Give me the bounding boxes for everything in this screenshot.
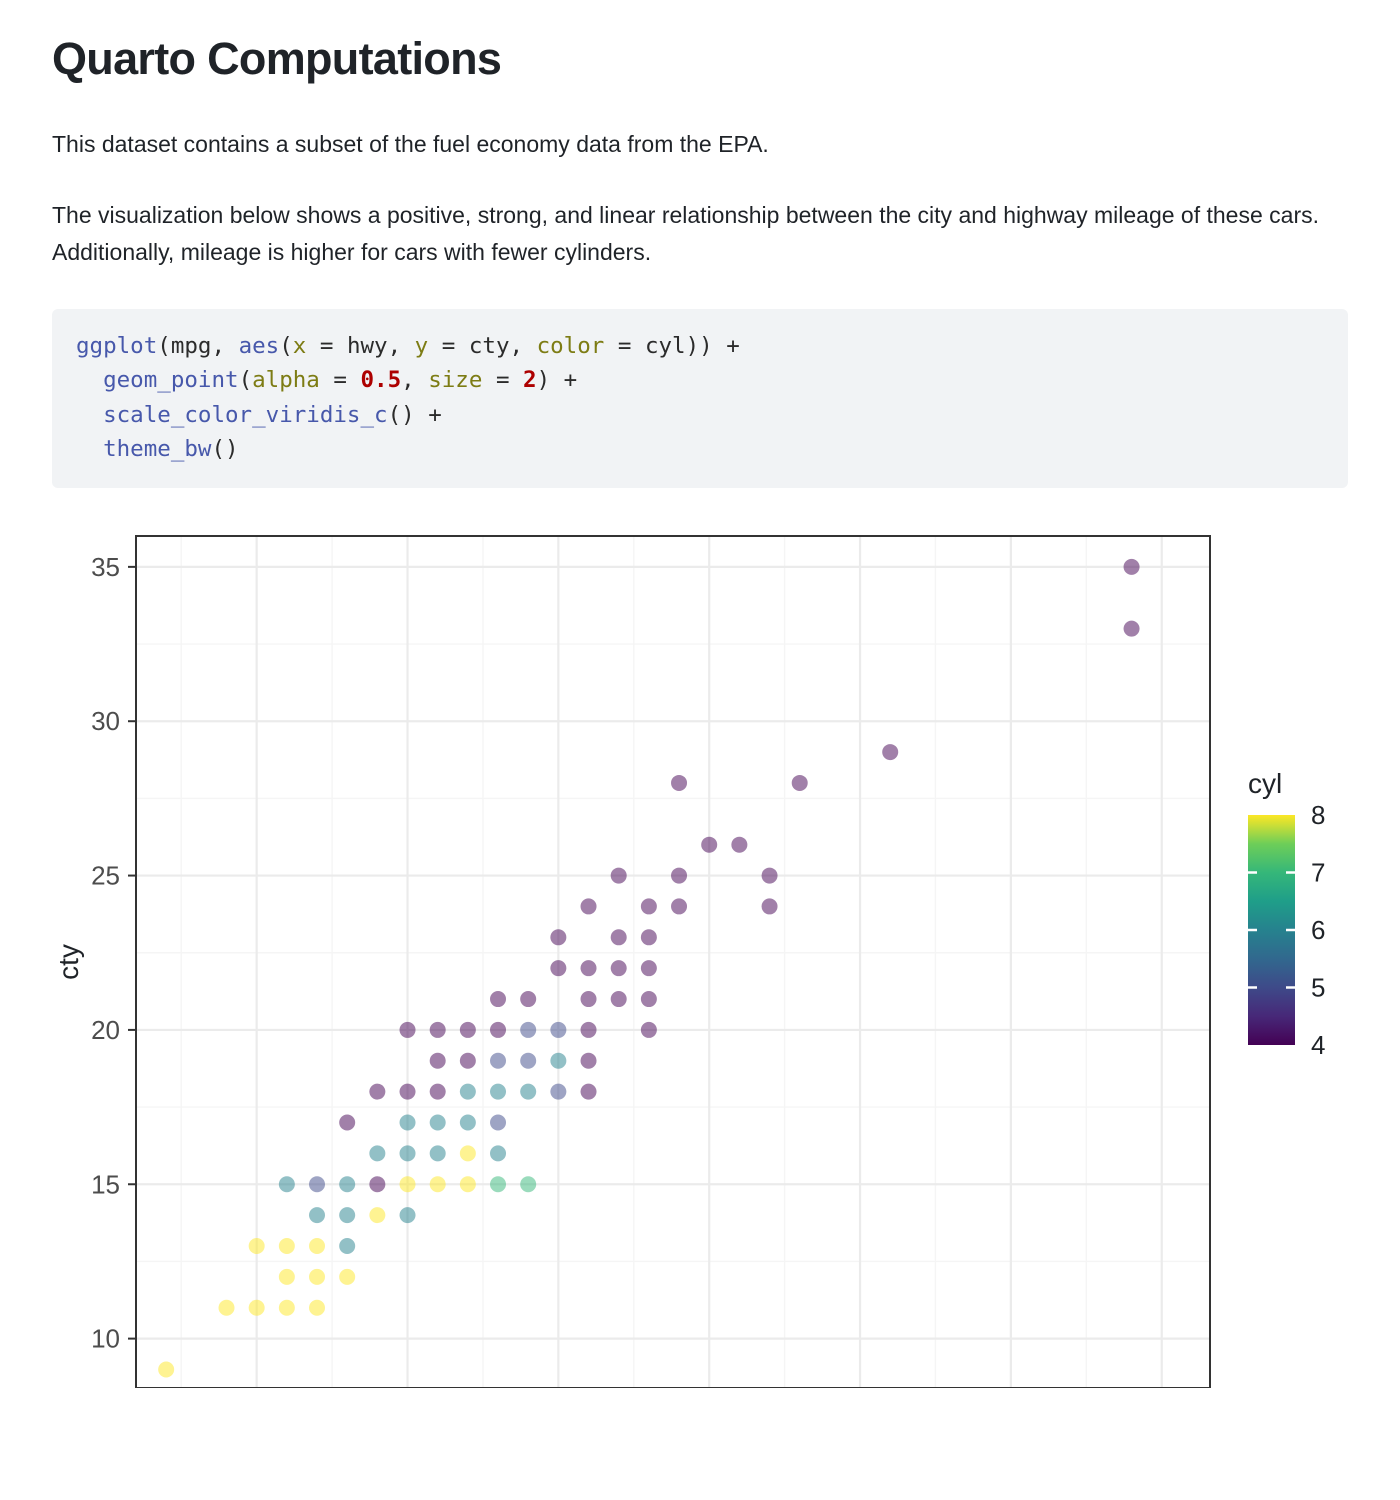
scatter-point: [581, 1084, 597, 1100]
code-token-fn: theme_bw: [103, 436, 211, 462]
scatter-point: [339, 1176, 355, 1192]
scatter-point: [430, 1084, 446, 1100]
code-line: geom_point(alpha = 0.5, size = 2) +: [76, 363, 1324, 397]
scatter-point: [400, 1115, 416, 1131]
scatter-point: [701, 837, 717, 853]
code-block[interactable]: ggplot(mpg, aes(x = hwy, y = cty, color …: [52, 309, 1348, 488]
scatter-point: [550, 960, 566, 976]
y-tick-label: 25: [91, 861, 120, 891]
y-axis: 101520253035: [91, 552, 136, 1354]
scatter-point: [249, 1238, 265, 1254]
scatter-point: [1124, 621, 1140, 637]
scatter-point: [792, 775, 808, 791]
legend-tick-label: 5: [1311, 973, 1325, 1003]
scatter-point: [581, 991, 597, 1007]
code-token-pun: [76, 436, 103, 462]
code-token-fn: scale_color_viridis_c: [103, 402, 387, 428]
scatter-point: [430, 1022, 446, 1038]
scatter-point: [1124, 559, 1140, 575]
legend-tick-label: 6: [1311, 915, 1325, 945]
code-line: scale_color_viridis_c() +: [76, 398, 1324, 432]
scatter-point: [611, 991, 627, 1007]
plot-canvas: 101520253035ctycyl45678: [52, 528, 1352, 1388]
scatter-point: [309, 1269, 325, 1285]
scatter-point: [581, 898, 597, 914]
scatter-point: [460, 1022, 476, 1038]
y-tick-label: 20: [91, 1015, 120, 1045]
code-token-arg: y: [415, 333, 429, 359]
scatter-point: [641, 1022, 657, 1038]
scatter-point: [550, 1022, 566, 1038]
scatter-point: [369, 1145, 385, 1161]
scatter-point: [611, 960, 627, 976]
code-token-pun: [76, 367, 103, 393]
scatter-point: [581, 960, 597, 976]
scatter-point: [249, 1300, 265, 1316]
scatter-point: [430, 1145, 446, 1161]
code-token-pun: ): [537, 367, 551, 393]
scatter-point: [219, 1300, 235, 1316]
scatter-point: [882, 744, 898, 760]
scatter-point: [339, 1115, 355, 1131]
legend-colorbar: cyl45678: [1248, 768, 1325, 1060]
y-tick-label: 10: [91, 1324, 120, 1354]
scatter-point: [550, 1053, 566, 1069]
code-token-pun: =: [428, 333, 469, 359]
y-axis-title: cty: [53, 944, 84, 980]
paragraph-intro: This dataset contains a subset of the fu…: [52, 126, 1342, 163]
scatter-point: [400, 1022, 416, 1038]
scatter-point: [641, 929, 657, 945]
scatter-point: [490, 1176, 506, 1192]
code-token-pun: =: [482, 367, 523, 393]
scatter-point: [460, 1053, 476, 1069]
code-token-pun: (: [279, 333, 293, 359]
scatter-point: [279, 1176, 295, 1192]
legend-tick-label: 4: [1311, 1030, 1325, 1060]
scatter-point: [460, 1115, 476, 1131]
y-tick-label: 30: [91, 706, 120, 736]
scatter-point: [279, 1300, 295, 1316]
code-token-pun: [76, 402, 103, 428]
code-token-pun: =: [306, 333, 347, 359]
code-token-num: 0.5: [360, 367, 401, 393]
scatter-point: [339, 1269, 355, 1285]
code-token-var: hwy: [347, 333, 388, 359]
scatter-point: [430, 1176, 446, 1192]
code-token-pun: (): [211, 436, 238, 462]
scatter-point: [641, 898, 657, 914]
scatter-point: [279, 1238, 295, 1254]
scatter-point: [490, 1022, 506, 1038]
scatter-point: [490, 1115, 506, 1131]
scatter-point: [611, 929, 627, 945]
scatter-point: [309, 1176, 325, 1192]
document-page: Quarto Computations This dataset contain…: [0, 0, 1400, 1388]
code-token-pun: +: [415, 402, 442, 428]
code-token-pun: )): [686, 333, 713, 359]
scatter-point: [671, 775, 687, 791]
scatter-point: [731, 837, 747, 853]
code-token-fn: geom_point: [103, 367, 238, 393]
scatter-point: [339, 1207, 355, 1223]
code-token-arg: size: [428, 367, 482, 393]
scatter-point: [309, 1238, 325, 1254]
code-token-pun: +: [550, 367, 577, 393]
page-title: Quarto Computations: [52, 34, 1348, 84]
scatter-point: [279, 1269, 295, 1285]
code-token-arg: x: [293, 333, 307, 359]
code-line: theme_bw(): [76, 432, 1324, 466]
scatter-point: [490, 1145, 506, 1161]
scatter-point: [641, 991, 657, 1007]
y-tick-label: 15: [91, 1169, 120, 1199]
code-token-pun: (): [388, 402, 415, 428]
scatter-point: [611, 868, 627, 884]
scatter-point: [520, 1176, 536, 1192]
code-token-pun: ,: [510, 333, 537, 359]
code-token-pun: ,: [401, 367, 428, 393]
code-token-fn: aes: [239, 333, 280, 359]
scatter-point: [460, 1145, 476, 1161]
scatter-point: [369, 1176, 385, 1192]
scatter-point: [581, 1053, 597, 1069]
code-token-arg: alpha: [252, 367, 320, 393]
scatter-point: [641, 960, 657, 976]
scatter-point: [400, 1145, 416, 1161]
scatter-point: [158, 1361, 174, 1377]
scatter-point: [520, 1022, 536, 1038]
scatter-point: [400, 1207, 416, 1223]
scatter-point: [400, 1084, 416, 1100]
scatter-point: [339, 1238, 355, 1254]
code-token-var: cyl: [645, 333, 686, 359]
scatter-point: [762, 868, 778, 884]
code-token-pun: ,: [211, 333, 238, 359]
scatter-point: [490, 1053, 506, 1069]
scatter-point: [490, 1084, 506, 1100]
scatter-point: [369, 1084, 385, 1100]
scatter-point: [550, 929, 566, 945]
legend-title: cyl: [1248, 768, 1282, 799]
code-token-arg: color: [537, 333, 605, 359]
scatter-point: [460, 1176, 476, 1192]
scatter-point: [581, 1022, 597, 1038]
code-token-pun: (: [157, 333, 171, 359]
code-token-var: mpg: [171, 333, 212, 359]
scatter-point: [762, 898, 778, 914]
scatter-point: [550, 1084, 566, 1100]
plot-panel-background: [136, 536, 1210, 1388]
scatter-point: [430, 1115, 446, 1131]
legend-tick-label: 8: [1311, 800, 1325, 830]
code-token-num: 2: [523, 367, 537, 393]
code-token-pun: =: [604, 333, 645, 359]
scatter-point: [671, 898, 687, 914]
scatter-point: [400, 1176, 416, 1192]
paragraph-description: The visualization below shows a positive…: [52, 197, 1342, 272]
code-token-fn: ggplot: [76, 333, 157, 359]
scatter-point: [430, 1053, 446, 1069]
code-token-pun: +: [713, 333, 740, 359]
scatter-point: [460, 1084, 476, 1100]
code-token-pun: ,: [388, 333, 415, 359]
scatter-point: [520, 1084, 536, 1100]
scatter-point: [490, 991, 506, 1007]
scatter-point: [520, 991, 536, 1007]
code-line: ggplot(mpg, aes(x = hwy, y = cty, color …: [76, 329, 1324, 363]
code-token-var: cty: [469, 333, 510, 359]
scatter-point: [369, 1207, 385, 1223]
y-tick-label: 35: [91, 552, 120, 582]
scatter-point: [309, 1300, 325, 1316]
scatter-plot-figure: 101520253035ctycyl45678: [52, 528, 1352, 1388]
code-token-pun: =: [320, 367, 361, 393]
scatter-point: [309, 1207, 325, 1223]
code-token-pun: (: [239, 367, 253, 393]
legend-tick-label: 7: [1311, 858, 1325, 888]
scatter-point: [520, 1053, 536, 1069]
scatter-point: [671, 868, 687, 884]
